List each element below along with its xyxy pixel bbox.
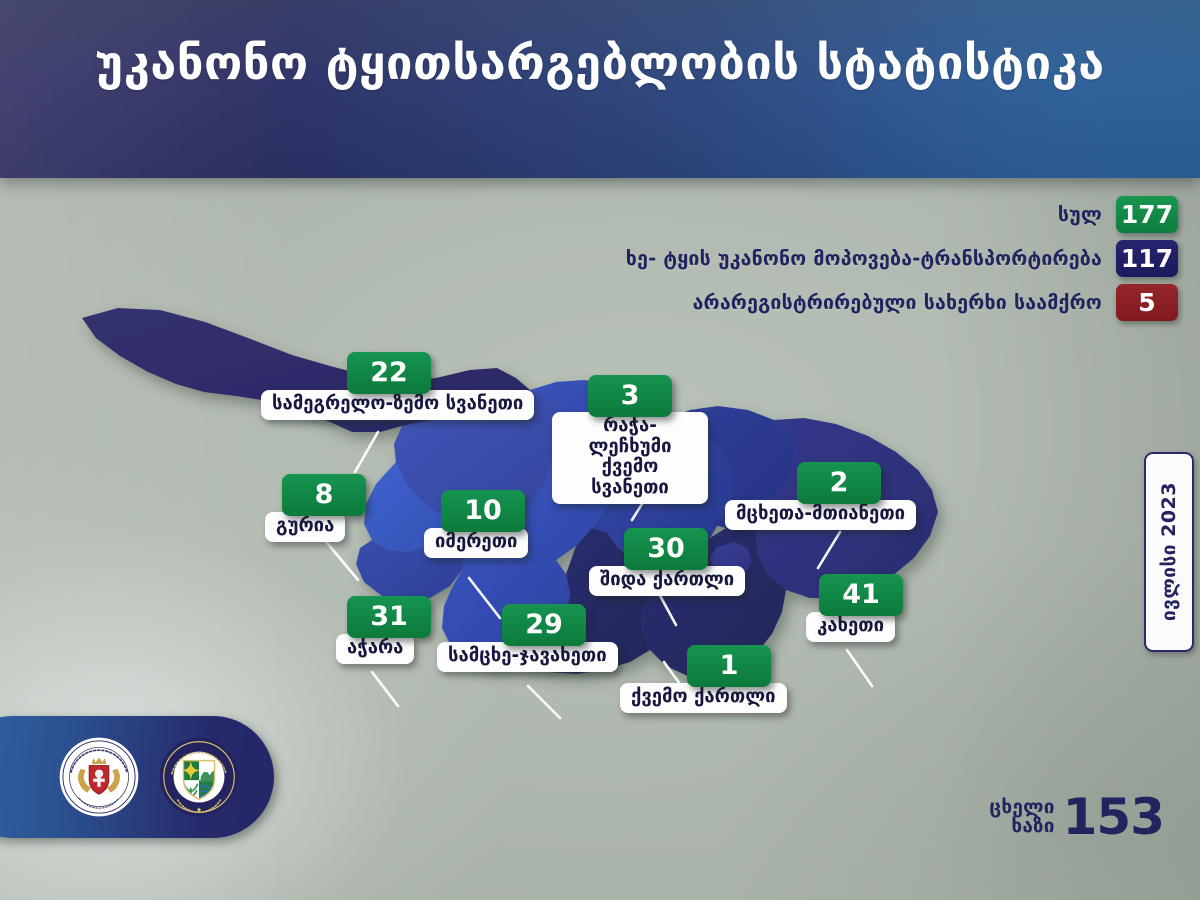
legend: სულ 177 ხე- ტყის უკანონო მოპოვება-ტრანსპ… [418,196,1178,321]
legend-label-total: სულ [1058,203,1102,226]
marker-label-samtskhe: სამცხე-ჯავახეთი [437,642,618,672]
hotline-line2: ხაზი [989,817,1054,836]
marker-label-racha: რაჭა-ლეჩხუმი ქვემო სვანეთი [552,412,708,504]
legend-chip-transport: 117 [1116,240,1178,277]
marker-guria: 8 გურია [265,474,366,542]
marker-samtskhe: 29 სამცხე-ჯავახეთი [437,604,618,672]
header-banner: უკანონო ტყითსარგებლობის სტატისტიკა [0,0,1200,178]
legend-row-total: სულ 177 [418,196,1178,233]
marker-kvemokartli: 1 ქვემო ქართლი [620,645,787,713]
infographic-canvas: უკანონო ტყითსარგებლობის სტატისტიკა [0,0,1200,900]
ministry-emblem-icon [58,736,140,818]
marker-value-kvemokartli: 1 [687,645,771,687]
marker-label-kakheti: კახეთი [806,612,895,642]
agency-emblem-icon [158,736,240,818]
marker-label-racha-line2: ქვემო სვანეთი [591,456,669,498]
marker-adjara: 31 აჭარა [336,596,431,664]
marker-value-guria: 8 [282,474,366,516]
legend-row-sawmill: არარეგისტრირებული სახერხი საამქრო 5 [418,284,1178,321]
marker-label-shidakartli: შიდა ქართლი [589,566,745,596]
page-title: უკანონო ტყითსარგებლობის სტატისტიკა [0,40,1200,87]
marker-value-samegrelo: 22 [347,352,431,394]
hotline: ცხელი ხაზი 153 [989,792,1164,842]
marker-label-guria: გურია [265,512,345,542]
date-tab-label: ივლისი 2023 [1158,482,1180,621]
marker-label-adjara: აჭარა [336,634,414,664]
legend-label-transport: ხე- ტყის უკანონო მოპოვება-ტრანსპორტირება [626,247,1102,270]
marker-value-mtskheta: 2 [797,462,881,504]
marker-mtskheta: 2 მცხეთა-მთიანეთი [725,462,916,530]
marker-label-imereti: იმერეთი [424,528,528,558]
legend-chip-total: 177 [1116,196,1178,233]
marker-value-racha: 3 [588,375,672,417]
marker-samegrelo: 22 სამეგრელო-ზემო სვანეთი [261,352,534,420]
marker-label-mtskheta: მცხეთა-მთიანეთი [725,500,916,530]
legend-chip-sawmill: 5 [1116,284,1178,321]
marker-label-kvemokartli: ქვემო ქართლი [620,683,787,713]
marker-imereti: 10 იმერეთი [424,490,528,558]
marker-value-shidakartli: 30 [624,528,708,570]
hotline-words: ცხელი ხაზი [989,798,1054,837]
date-tab: ივლისი 2023 [1144,452,1194,652]
marker-kakheti: 41 კახეთი [806,574,903,642]
marker-label-racha-line1: რაჭა-ლეჩხუმი [588,415,671,457]
hotline-number: 153 [1063,792,1164,842]
legend-label-sawmill: არარეგისტრირებული სახერხი საამქრო [693,291,1102,314]
legend-row-transport: ხე- ტყის უკანონო მოპოვება-ტრანსპორტირება… [418,240,1178,277]
marker-value-adjara: 31 [347,596,431,638]
marker-value-kakheti: 41 [819,574,903,616]
marker-value-imereti: 10 [441,490,525,532]
marker-label-samegrelo: სამეგრელო-ზემო სვანეთი [261,390,534,420]
marker-value-samtskhe: 29 [502,604,586,646]
logo-pill [0,716,274,838]
marker-racha: 3 რაჭა-ლეჩხუმი ქვემო სვანეთი [551,375,709,504]
marker-shidakartli: 30 შიდა ქართლი [589,528,745,596]
